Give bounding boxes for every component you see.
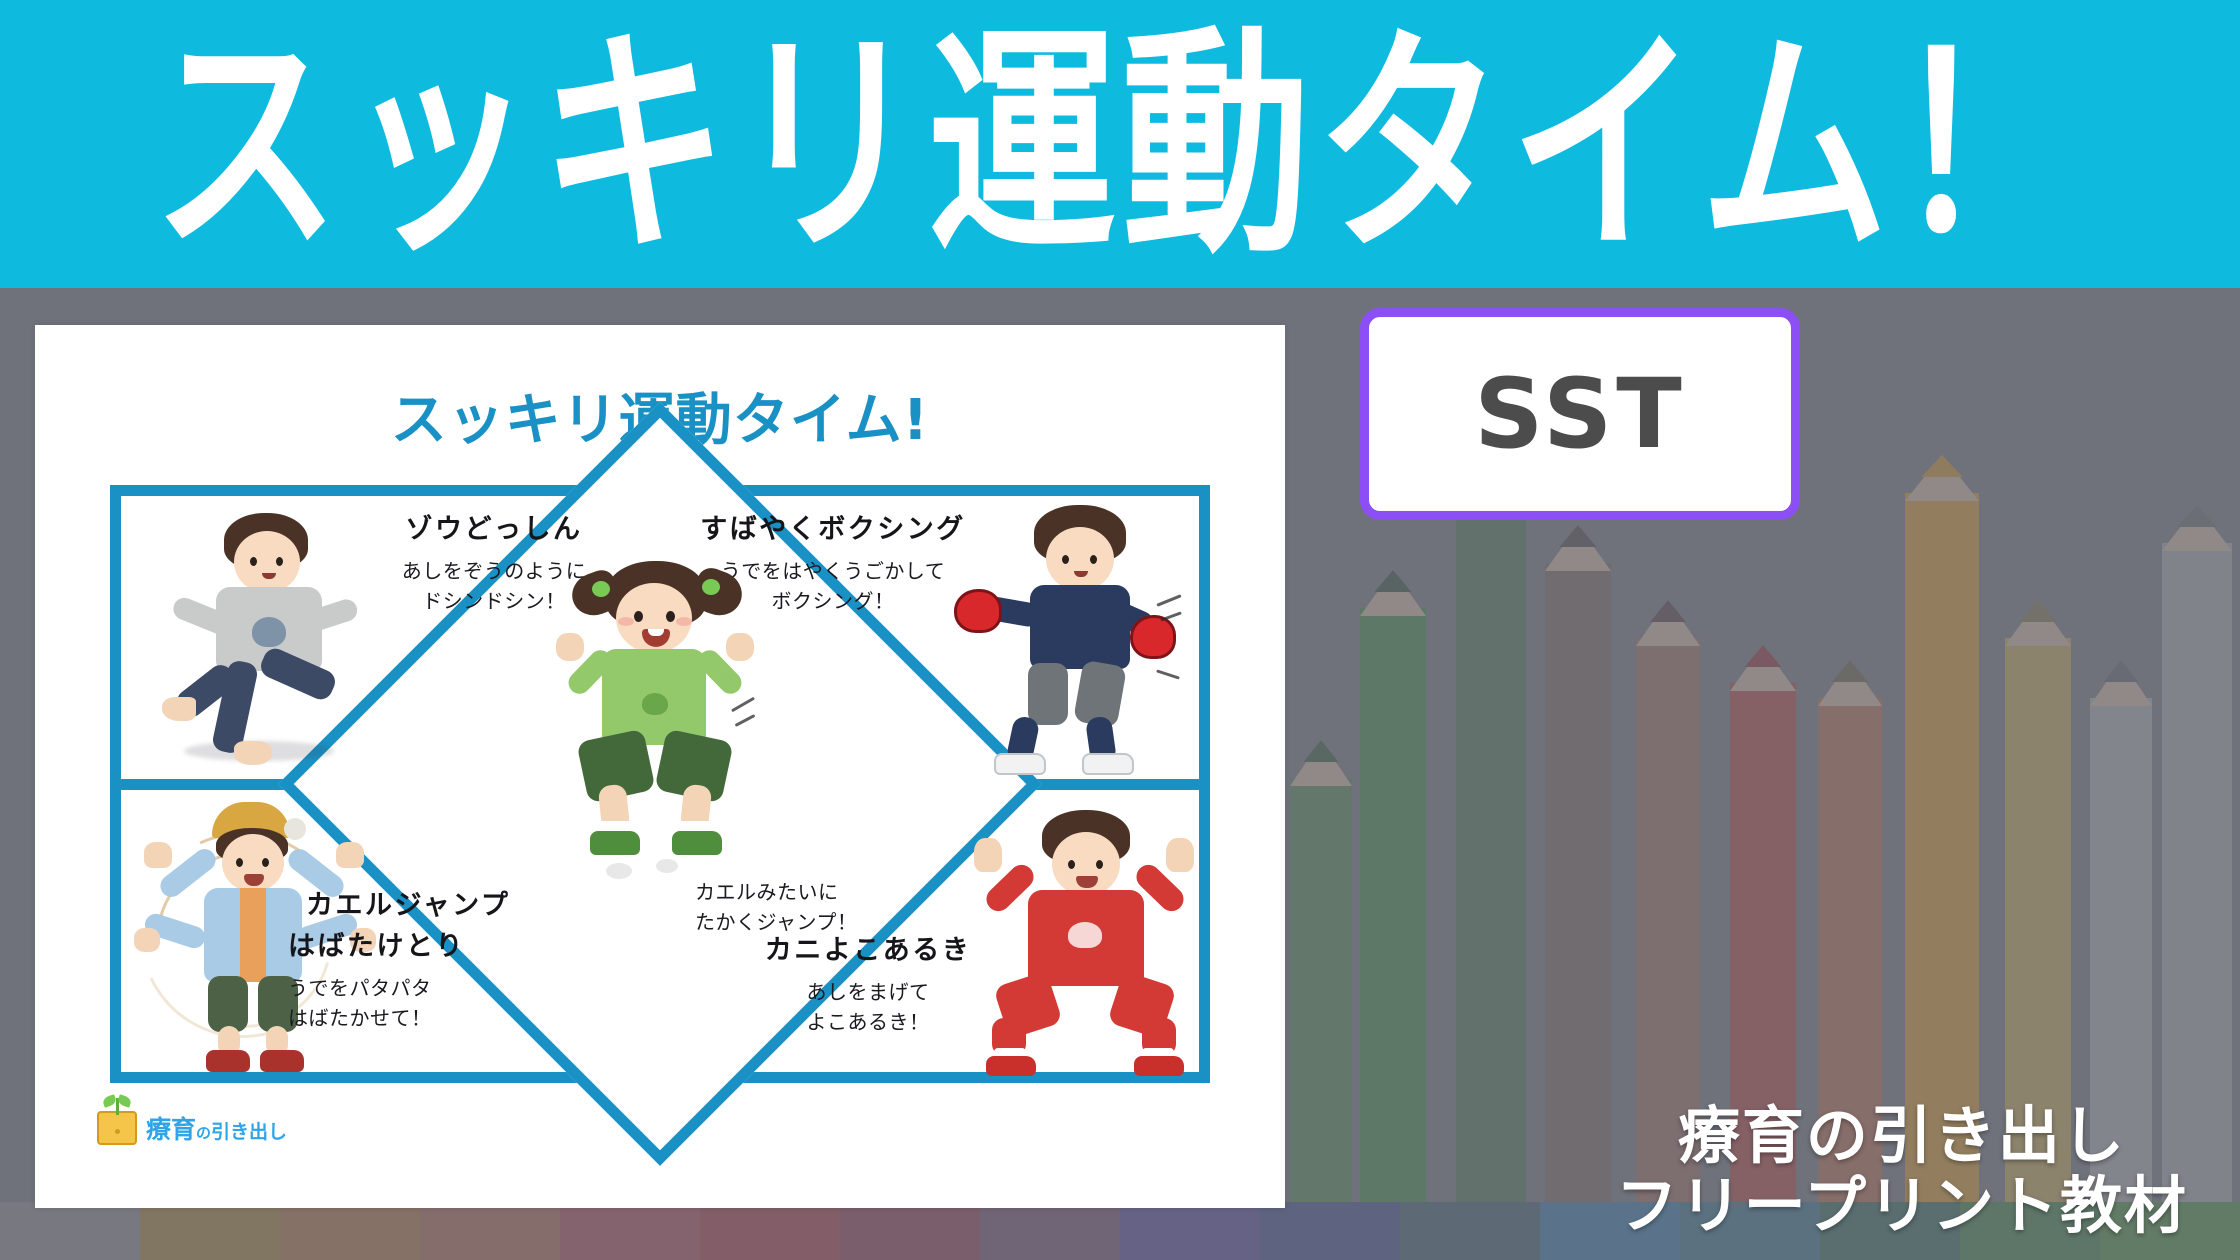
activity-desc-line1: うでをパタパタ (288, 973, 558, 1003)
logo-text-main: 療育 (146, 1115, 196, 1144)
brand-footer: 療育の引き出し フリープリント教材 (1616, 1101, 2188, 1240)
activity-grid: ゾウどっしん あしをぞうのように ドシンドシン！ (110, 485, 1210, 1083)
activity-desc-line2: たかくジャンプ！ (695, 907, 857, 937)
activity-title-frog: カエルジャンプ (306, 883, 510, 922)
activity-desc-line1: カエルみたいに (695, 877, 857, 907)
badge-label: SST (1474, 358, 1685, 470)
sprout-icon (116, 1098, 119, 1115)
status-badge: SST (1360, 308, 1800, 520)
boxing-glove-icon (1130, 615, 1176, 659)
brand-line-2: フリープリント教材 (1616, 1171, 2188, 1240)
logo-text-tail: 引き出し (211, 1121, 287, 1143)
activity-description: あしをまげて よこあるき！ (718, 977, 1018, 1037)
page-title: スッキリ運動タイム！ (152, 26, 2088, 267)
activity-description-frog: カエルみたいに たかくジャンプ！ (695, 877, 857, 937)
illustration-boy-boxing-gloves (960, 503, 1180, 775)
activity-title: ゾウどっしん (344, 507, 644, 546)
activity-desc-line2: はばたかせて！ (288, 1003, 558, 1033)
brand-line-1: 療育の引き出し (1616, 1101, 2188, 1170)
illustration-girl-frog-jump (530, 553, 780, 883)
activity-title: すばやくボクシング (678, 507, 988, 546)
logo-text-small: の (196, 1124, 211, 1142)
worksheet-card: スッキリ運動タイム! ゾウどっしん (35, 325, 1285, 1208)
header-banner: スッキリ運動タイム！ (0, 0, 2240, 288)
activity-description: うでをパタパタ はばたかせて！ (288, 973, 558, 1033)
activity-desc-line2: よこあるき！ (718, 1007, 1018, 1037)
sprout-drawer-icon (97, 1111, 137, 1145)
activity-title: はばたけとり (288, 924, 558, 963)
activity-desc-line1: あしをまげて (718, 977, 1018, 1007)
activity-text-crab: カニよこあるき あしをまげて よこあるき！ (718, 928, 1018, 1037)
logo-text: 療育の引き出し (146, 1110, 287, 1146)
worksheet-logo: 療育の引き出し (97, 1110, 287, 1146)
activity-text-bird: はばたけとり うでをパタパタ はばたかせて！ (288, 924, 558, 1033)
